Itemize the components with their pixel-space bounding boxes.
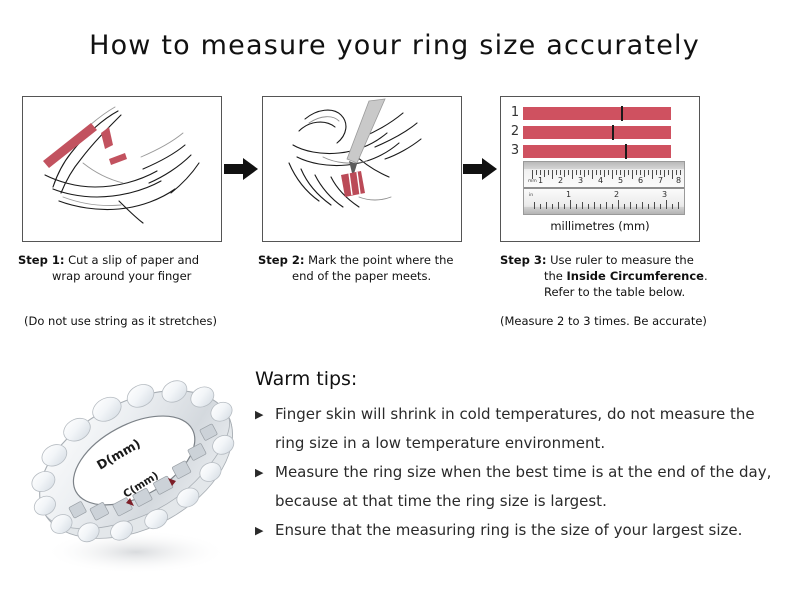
step-2-caption: Step 2: Mark the point where the end of … — [258, 252, 494, 284]
step-3-line-2-suffix: . — [704, 269, 708, 283]
step-2-panel — [262, 96, 462, 242]
arrow-step2-to-step3-icon — [463, 156, 497, 182]
ruler-graphic: mm 1 2 3 4 5 6 7 8 — [523, 161, 685, 215]
step-1-line-1: Cut a slip of paper and — [68, 253, 199, 267]
ruler-inch-tick-1: 1 — [566, 191, 571, 199]
hand-marking-paper-illustration — [263, 97, 460, 240]
bar-label-3: 3 — [507, 143, 523, 159]
step-1-line-2: wrap around your finger — [18, 268, 254, 284]
ruler-cm-tick-3: 3 — [578, 177, 583, 185]
hand-with-paper-strip-illustration — [23, 97, 220, 240]
ruler-cm-tick-2: 2 — [558, 177, 563, 185]
tip-text: Measure the ring size when the best time… — [275, 463, 771, 510]
bullet-triangle-icon: ▶ — [255, 458, 263, 487]
step-3-panel: 1 2 3 — [500, 96, 700, 242]
ruler-cm-tick-5: 5 — [618, 177, 623, 185]
bullet-triangle-icon: ▶ — [255, 400, 263, 429]
tip-text: Finger skin will shrink in cold temperat… — [275, 405, 755, 452]
step-3-line-1: Use ruler to measure the — [550, 253, 694, 267]
ruler-cm-tick-7: 7 — [658, 177, 663, 185]
step-3-note: (Measure 2 to 3 times. Be accurate) — [500, 314, 707, 328]
step-3-line-2: the Inside Circumference. — [500, 268, 750, 284]
ruler-cm-tick-4: 4 — [598, 177, 603, 185]
measurement-bar-row: 2 — [507, 124, 671, 140]
bar-label-2: 2 — [507, 124, 523, 140]
step-1-note: (Do not use string as it stretches) — [24, 314, 217, 328]
step-3-line-2-prefix: the — [544, 269, 567, 283]
step-1-label: Step 1: — [18, 253, 64, 267]
paper-strip-bar-3 — [523, 145, 671, 158]
measurement-bars-group: 1 2 3 — [507, 105, 671, 162]
step-1-panel — [22, 96, 222, 242]
marked-paper-band — [341, 171, 365, 197]
paper-strip — [43, 123, 127, 168]
inside-circumference-emphasis: Inside Circumference — [567, 269, 704, 283]
ruler-cm-tick-6: 6 — [638, 177, 643, 185]
tip-item: ▶ Measure the ring size when the best ti… — [255, 458, 775, 516]
step-3-caption: Step 3: Use ruler to measure the the Ins… — [500, 252, 750, 300]
paper-strip-bar-2 — [523, 126, 671, 139]
step-2-line-1: Mark the point where the — [308, 253, 453, 267]
tip-item: ▶ Ensure that the measuring ring is the … — [255, 516, 775, 545]
tip-item: ▶ Finger skin will shrink in cold temper… — [255, 400, 775, 458]
step-2-label: Step 2: — [258, 253, 304, 267]
arrow-step1-to-step2-icon — [224, 156, 258, 182]
page-title: How to measure your ring size accurately — [0, 30, 789, 61]
tip-text: Ensure that the measuring ring is the si… — [275, 521, 742, 539]
step-1-caption: Step 1: Cut a slip of paper and wrap aro… — [18, 252, 254, 284]
bar-label-1: 1 — [507, 105, 523, 121]
measurement-bar-row: 3 — [507, 143, 671, 159]
ruler-unit-label: millimetres (mm) — [501, 219, 699, 233]
warm-tips-heading: Warm tips: — [255, 368, 357, 390]
warm-tips-list: ▶ Finger skin will shrink in cold temper… — [255, 400, 775, 545]
paper-strip-bar-1 — [523, 107, 671, 120]
ruler-inch-tick-3: 3 — [662, 191, 667, 199]
ruler-cm-unit: mm — [528, 179, 537, 184]
ring-illustration: D(mm) C(mm) — [18, 352, 264, 584]
ring-shadow — [44, 530, 228, 574]
ruler-inch-unit: in — [529, 193, 533, 198]
measurement-bar-row: 1 — [507, 105, 671, 121]
ruler-cm-tick-1: 1 — [538, 177, 543, 185]
ruler-cm-tick-8: 8 — [676, 177, 681, 185]
ring-size-guide-page: How to measure your ring size accurately — [0, 0, 789, 606]
ruler-middle-divider — [524, 187, 684, 189]
bullet-triangle-icon: ▶ — [255, 516, 263, 545]
step-3-line-3: Refer to the table below. — [500, 284, 750, 300]
ruler-inch-tick-2: 2 — [614, 191, 619, 199]
step-2-line-2: end of the paper meets. — [258, 268, 494, 284]
step-3-label: Step 3: — [500, 253, 546, 267]
ruler-top-band — [524, 162, 684, 169]
pen-icon — [347, 99, 385, 177]
